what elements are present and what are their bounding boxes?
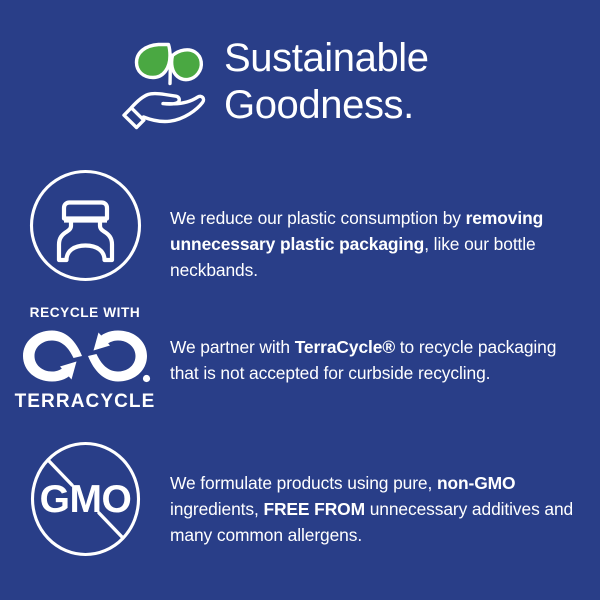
benefit-row-terracycle: RECYCLE WITH TERRACYCL [0,305,600,412]
benefit-row-gmo-text: We formulate products using pure, non-GM… [170,470,584,548]
sustainable-goodness-panel: Sustainable Goodness. We reduce our plas… [0,0,600,600]
header-line-2: Goodness. [224,82,429,129]
terracycle-bottom-label: TERRACYCLE [15,391,156,412]
benefit-row-plastic-icon-slot [0,168,170,283]
benefit-row-terracycle-body: We partner with TerraCycle® to recycle p… [170,305,600,404]
hand-holding-sprout-icon [112,30,216,134]
header: Sustainable Goodness. [0,22,600,140]
infinity-loop-arrows-icon [16,325,154,387]
benefit-row-gmo: GMO We formulate products using pure, no… [0,440,600,566]
benefit-row-plastic: We reduce our plastic consumption by rem… [0,168,600,301]
benefit-row-terracycle-text: We partner with TerraCycle® to recycle p… [170,334,584,386]
no-gmo-label: GMO [39,478,131,521]
terracycle-logo: RECYCLE WITH TERRACYCL [16,305,154,412]
benefit-row-gmo-body: We formulate products using pure, non-GM… [170,440,600,566]
terracycle-top-label: RECYCLE WITH [30,305,141,320]
no-gmo-circle-slash-icon: GMO [28,440,143,558]
benefit-row-plastic-text: We reduce our plastic consumption by rem… [170,205,584,283]
bottle-neckband-circle-icon [28,168,143,283]
benefit-row-gmo-icon-slot: GMO [0,440,170,558]
benefit-row-terracycle-icon-slot: RECYCLE WITH TERRACYCL [0,305,170,412]
benefit-row-plastic-body: We reduce our plastic consumption by rem… [170,168,600,301]
header-text-block: Sustainable Goodness. [224,35,429,129]
header-line-1: Sustainable [224,35,429,82]
